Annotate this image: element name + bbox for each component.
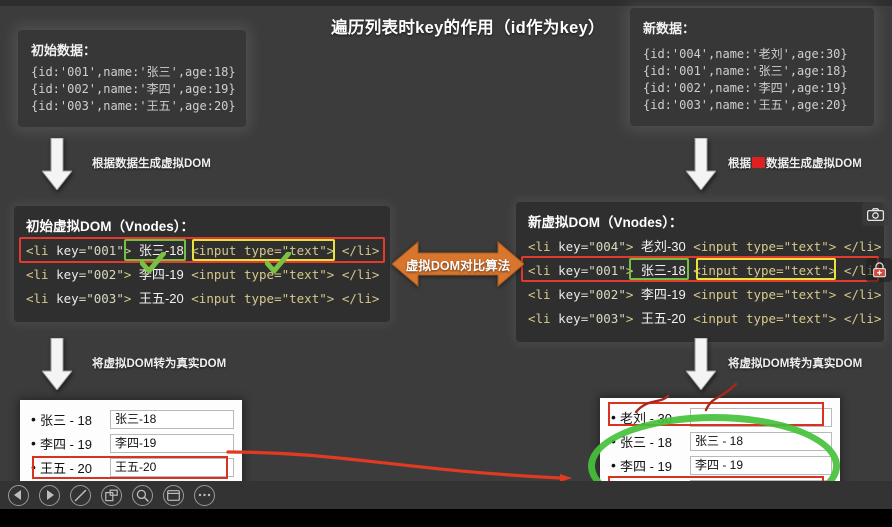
bullet-icon: • bbox=[611, 458, 620, 472]
vdom-input-markup: <input type="text"> bbox=[693, 239, 836, 254]
bullet-icon: • bbox=[31, 412, 40, 426]
new-vdom-panel: 新虚拟DOM（Vnodes）： <li key="004"> 老刘-30 <in… bbox=[516, 202, 884, 342]
vdom-code-line: <li key="001"> 张三-18 <input type="text">… bbox=[26, 239, 380, 263]
real-dom-left-panel: • 张三 - 18 张三-18 • 李四 - 19 李四-19 • 王五 - 2… bbox=[20, 400, 242, 486]
real-dom-row: • 李四 - 19 李四 - 19 bbox=[608, 453, 832, 477]
vdom-name: 王五 bbox=[139, 291, 165, 306]
vdom-key: 001 bbox=[94, 243, 117, 258]
vdom-close-tag: </li> bbox=[342, 267, 380, 282]
right-render-label: 将虚拟DOM转为真实DOM bbox=[728, 355, 862, 371]
vdom-close-tag: </li> bbox=[844, 311, 882, 326]
vdom-input-markup: <input type="text"> bbox=[191, 267, 334, 282]
vdom-code-line: <li key="004"> 老刘-30 <input type="text">… bbox=[528, 235, 874, 259]
real-dom-row: • 张三 - 18 张三 - 18 bbox=[608, 429, 832, 453]
real-dom-row-label: 王五 - 20 bbox=[40, 458, 104, 477]
vdom-age: 19 bbox=[169, 267, 183, 282]
right-generate-label: 根据数据生成虚拟DOM bbox=[728, 155, 862, 171]
real-dom-row: • 李四 - 19 李四-19 bbox=[28, 431, 234, 455]
real-dom-row-label: 李四 - 19 bbox=[40, 434, 104, 453]
vdom-input-markup: <input type="text"> bbox=[693, 311, 836, 326]
vdom-key: 001 bbox=[596, 263, 619, 278]
bullet-icon: • bbox=[31, 436, 40, 450]
real-dom-row-input[interactable]: 张三-18 bbox=[110, 410, 234, 429]
vdom-name: 老刘 bbox=[641, 239, 667, 254]
zoom-tool-button[interactable] bbox=[132, 485, 153, 506]
pen-tool-button[interactable] bbox=[70, 485, 91, 506]
down-arrow-icon bbox=[686, 138, 716, 190]
vdom-close-tag: </li> bbox=[844, 239, 882, 254]
down-arrow-icon bbox=[686, 338, 716, 390]
left-generate-label: 根据数据生成虚拟DOM bbox=[92, 155, 211, 171]
vdom-age: 30 bbox=[671, 239, 685, 254]
real-dom-row-input[interactable] bbox=[690, 408, 832, 427]
real-dom-row-label: 老刘 - 30 bbox=[620, 408, 684, 427]
vdom-key: 003 bbox=[94, 291, 117, 306]
bullet-icon: • bbox=[31, 460, 40, 474]
left-render-label: 将虚拟DOM转为真实DOM bbox=[92, 355, 226, 371]
vdom-name: 张三 bbox=[139, 243, 165, 258]
diff-algorithm-arrow: 虚拟DOM对比算法 bbox=[392, 238, 524, 290]
right-generate-label-after: 数据生成虚拟DOM bbox=[766, 158, 862, 170]
real-dom-row-label: 张三 - 18 bbox=[40, 410, 104, 429]
real-dom-row-input[interactable]: 李四-19 bbox=[110, 434, 234, 453]
vdom-age: 18 bbox=[169, 243, 183, 258]
initial-data-row: {id:'002',name:'李四',age:19} bbox=[31, 81, 234, 98]
right-generate-label-before: 根据 bbox=[728, 158, 751, 170]
initial-vdom-panel: 初始虚拟DOM（Vnodes）： <li key="001"> 张三-18 <i… bbox=[14, 206, 390, 322]
vdom-code-line: <li key="003"> 王五-20 <input type="text">… bbox=[26, 287, 380, 311]
next-slide-button[interactable] bbox=[39, 485, 60, 506]
vdom-age: 20 bbox=[169, 291, 183, 306]
initial-data-row: {id:'001',name:'张三',age:18} bbox=[31, 64, 234, 81]
vdom-age: 20 bbox=[671, 311, 685, 326]
new-data-heading: 新数据： bbox=[643, 18, 862, 37]
down-arrow-icon bbox=[42, 138, 72, 190]
real-dom-row: • 张三 - 18 张三-18 bbox=[28, 407, 234, 431]
top-letterbox bbox=[0, 0, 892, 6]
initial-vdom-heading: 初始虚拟DOM（Vnodes）： bbox=[26, 215, 380, 235]
new-vdom-heading: 新虚拟DOM（Vnodes）： bbox=[528, 211, 874, 231]
previous-slide-button[interactable] bbox=[8, 485, 29, 506]
vdom-key: 002 bbox=[596, 287, 619, 302]
vdom-key: 004 bbox=[596, 239, 619, 254]
window-tool-button[interactable] bbox=[163, 485, 184, 506]
vdom-code-line: <li key="001"> 张三-18 <input type="text">… bbox=[528, 259, 874, 283]
more-options-button[interactable] bbox=[194, 485, 215, 506]
camera-icon[interactable] bbox=[862, 202, 888, 226]
vdom-close-tag: </li> bbox=[844, 287, 882, 302]
page-title: 遍历列表时key的作用（id作为key） bbox=[258, 14, 678, 38]
real-dom-row-input[interactable]: 李四 - 19 bbox=[690, 456, 832, 475]
vdom-input-markup: <input type="text"> bbox=[191, 243, 334, 258]
vdom-name: 李四 bbox=[139, 267, 165, 282]
real-dom-row: • 王五 - 20 王五-20 bbox=[28, 455, 234, 479]
shapes-tool-button[interactable] bbox=[101, 485, 122, 506]
vdom-age: 18 bbox=[671, 263, 685, 278]
new-data-row: {id:'002',name:'李四',age:19} bbox=[643, 80, 862, 97]
new-data-row: {id:'004',name:'老刘',age:30} bbox=[643, 46, 862, 63]
vdom-name: 张三 bbox=[641, 263, 667, 278]
vdom-code-line: <li key="002"> 李四-19 <input type="text">… bbox=[26, 263, 380, 287]
redacted-character bbox=[752, 157, 765, 168]
vdom-key: 003 bbox=[596, 311, 619, 326]
vdom-input-markup: <input type="text"> bbox=[693, 263, 836, 278]
bullet-icon: • bbox=[611, 434, 620, 448]
new-data-row: {id:'001',name:'张三',age:18} bbox=[643, 63, 862, 80]
initial-data-box: 初始数据： {id:'001',name:'张三',age:18} {id:'0… bbox=[18, 30, 246, 127]
real-dom-row-input[interactable]: 王五-20 bbox=[110, 458, 234, 477]
vdom-key: 002 bbox=[94, 267, 117, 282]
bottom-letterbox bbox=[0, 509, 892, 527]
bottom-toolbar bbox=[0, 481, 892, 509]
vdom-input-markup: <input type="text"> bbox=[191, 291, 334, 306]
vdom-code-line: <li key="003"> 王五-20 <input type="text">… bbox=[528, 307, 874, 331]
initial-data-row: {id:'003',name:'王五',age:20} bbox=[31, 98, 234, 115]
real-dom-row: • 老刘 - 30 bbox=[608, 405, 832, 429]
presentation-slide: 遍历列表时key的作用（id作为key） 初始数据： {id:'001',nam… bbox=[0, 0, 892, 527]
real-dom-row-label: 张三 - 18 bbox=[620, 432, 684, 451]
real-dom-row-input[interactable]: 张三 - 18 bbox=[690, 432, 832, 451]
real-dom-row-label: 李四 - 19 bbox=[620, 456, 684, 475]
vdom-name: 李四 bbox=[641, 287, 667, 302]
initial-data-heading: 初始数据： bbox=[31, 40, 234, 59]
new-data-row: {id:'003',name:'王五',age:20} bbox=[643, 97, 862, 114]
lock-add-icon[interactable] bbox=[866, 258, 892, 282]
vdom-close-tag: </li> bbox=[342, 291, 380, 306]
vdom-close-tag: </li> bbox=[342, 243, 380, 258]
vdom-input-markup: <input type="text"> bbox=[693, 287, 836, 302]
vdom-code-line: <li key="002"> 李四-19 <input type="text">… bbox=[528, 283, 874, 307]
bullet-icon: • bbox=[611, 410, 620, 424]
diff-algorithm-label: 虚拟DOM对比算法 bbox=[392, 238, 524, 290]
down-arrow-icon bbox=[42, 338, 72, 390]
new-data-box: 新数据： {id:'004',name:'老刘',age:30} {id:'00… bbox=[630, 8, 874, 126]
vdom-age: 19 bbox=[671, 287, 685, 302]
vdom-name: 王五 bbox=[641, 311, 667, 326]
